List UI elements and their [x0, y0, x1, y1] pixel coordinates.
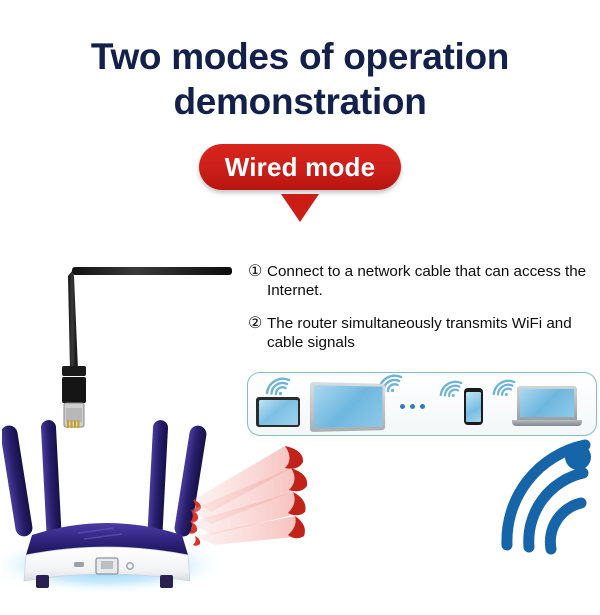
usb-port [74, 562, 84, 567]
device-laptop [512, 386, 582, 428]
instruction-text: Connect to a network cable that can acce… [267, 262, 593, 300]
dot [420, 404, 425, 409]
laptop-lid [517, 386, 577, 420]
circled-number-icon: ② [248, 314, 267, 333]
instruction-list: ① Connect to a network cable that can ac… [248, 262, 593, 366]
connected-devices-panel [247, 372, 597, 436]
circled-number-icon: ① [248, 262, 267, 281]
tablet-frame [256, 397, 300, 427]
page-title-line2: demonstration [0, 79, 600, 124]
instruction-text: The router simultaneously transmits WiFi… [267, 314, 593, 352]
page-title: Two modes of operation demonstration [0, 34, 600, 124]
wifi-arc-icon [438, 379, 464, 398]
laptop-screen [520, 389, 574, 417]
tablet-screen [259, 400, 298, 425]
device-monitor [311, 383, 387, 431]
laptop-base [512, 420, 582, 426]
phone-screen [466, 392, 481, 422]
monitor-screen [314, 385, 382, 428]
device-tablet [256, 397, 300, 427]
ellipsis-dots [400, 404, 425, 409]
badge-pointer-triangle-icon [281, 194, 319, 222]
dot [410, 404, 415, 409]
page-title-line1: Two modes of operation [0, 34, 600, 79]
wifi-dot-icon [565, 444, 591, 470]
mode-badge[interactable]: Wired mode [199, 144, 401, 190]
wifi-arc-icon [264, 376, 292, 396]
monitor-frame [310, 382, 385, 432]
list-item: ② The router simultaneously transmits Wi… [248, 314, 593, 352]
list-item: ① Connect to a network cable that can ac… [248, 262, 593, 300]
mode-badge-label: Wired mode [225, 152, 376, 183]
red-signal-beams [185, 440, 315, 550]
wifi-signal-icon [493, 433, 598, 558]
device-smartphone [464, 388, 483, 425]
phone-frame [464, 388, 483, 425]
dot [400, 404, 405, 409]
